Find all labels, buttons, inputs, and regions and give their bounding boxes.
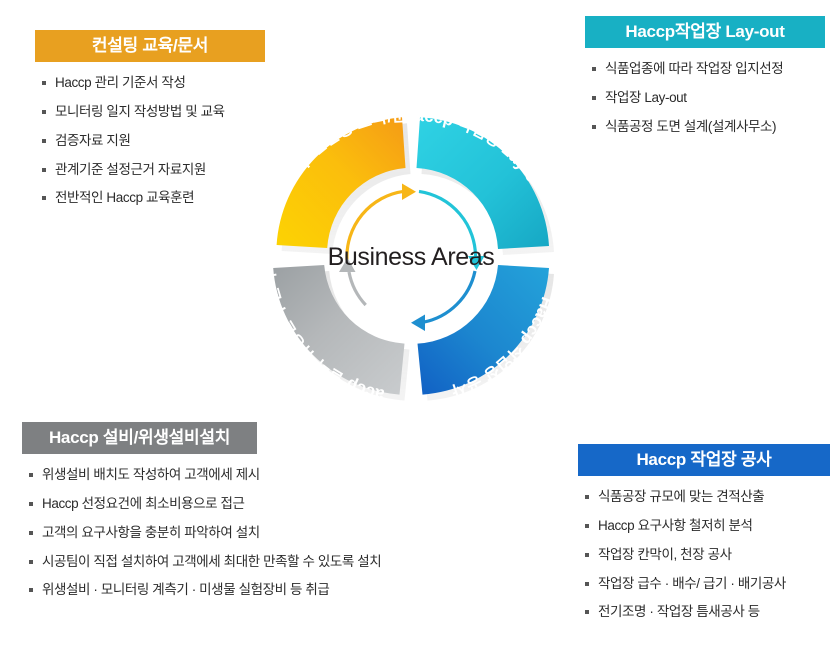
panel-workplace-construction: Haccp 작업장 공사 식품공장 규모에 맞는 견적산출 Haccp 요구사항…	[578, 444, 836, 634]
list-item: 시공팀이 직접 설치하여 고객에세 최대한 만족할 수 있도록 설치	[28, 555, 462, 570]
panel-title-workplace-construction: Haccp 작업장 공사	[578, 444, 830, 476]
arrow-bottom-track	[423, 271, 475, 322]
segment-construction[interactable]: Haccp 작업장 공사	[418, 265, 556, 401]
list-item: 작업장 칸막이, 천장 공사	[584, 548, 836, 563]
list-item: Haccp 요구사항 철저히 분석	[584, 519, 836, 534]
list-item: 식품공장 규모에 맞는 견적산출	[584, 490, 836, 505]
arrow-left-track	[349, 272, 366, 305]
list-item: 작업장 급수 · 배수/ 급기 · 배기공사	[584, 577, 836, 592]
panel-equipment-installation: Haccp 설비/위생설비설치 위생설비 배치도 작성하여 고객에세 제시 Ha…	[22, 422, 462, 612]
panel-title-workplace-layout: Haccp작업장 Lay-out	[585, 16, 825, 48]
arrow-left	[339, 258, 356, 272]
arrow-top	[402, 184, 416, 201]
panel-title-equipment-installation: Haccp 설비/위생설비설치	[22, 422, 257, 454]
list-item: 작업장 Lay-out	[591, 91, 836, 106]
list-item: 위생설비 · 모니터링 계측기 · 미생물 실험장비 등 취급	[28, 583, 462, 598]
list-item: 위생설비 배치도 작성하여 고객에세 제시	[28, 468, 462, 483]
list-item: 전기조명 · 작업장 틈새공사 등	[584, 605, 836, 620]
list-item: 고객의 요구사항을 충분히 파악하여 설치	[28, 526, 462, 541]
arrow-right	[468, 256, 485, 270]
business-areas-donut-diagram: Haccp 컨설팅 교육/문서 Haccp 작업장 Lay-out Haccp …	[236, 82, 586, 432]
bullet-list-equipment-installation: 위생설비 배치도 작성하여 고객에세 제시 Haccp 선정요건에 최소비용으로…	[28, 468, 462, 598]
list-item: 식품업종에 따라 작업장 입지선정	[591, 62, 836, 77]
list-item: 식품공정 도면 설계(설계사무소)	[591, 120, 836, 135]
arrow-bottom	[411, 315, 425, 332]
arrow-top-track	[347, 191, 404, 260]
segment-consulting[interactable]: Haccp 컨설팅 교육/문서	[236, 82, 408, 248]
list-item: Haccp 선정요건에 최소비용으로 접근	[28, 497, 462, 512]
panel-workplace-layout: Haccp작업장 Lay-out 식품업종에 따라 작업장 입지선정 작업장 L…	[585, 16, 836, 149]
panel-title-consulting-education: 컨설팅 교육/문서	[35, 30, 265, 62]
bullet-list-workplace-layout: 식품업종에 따라 작업장 입지선정 작업장 Lay-out 식품공정 도면 설계…	[591, 62, 836, 135]
arrow-right-track	[419, 191, 476, 258]
bullet-list-workplace-construction: 식품공장 규모에 맞는 견적산출 Haccp 요구사항 철저히 분석 작업장 칸…	[584, 490, 836, 620]
